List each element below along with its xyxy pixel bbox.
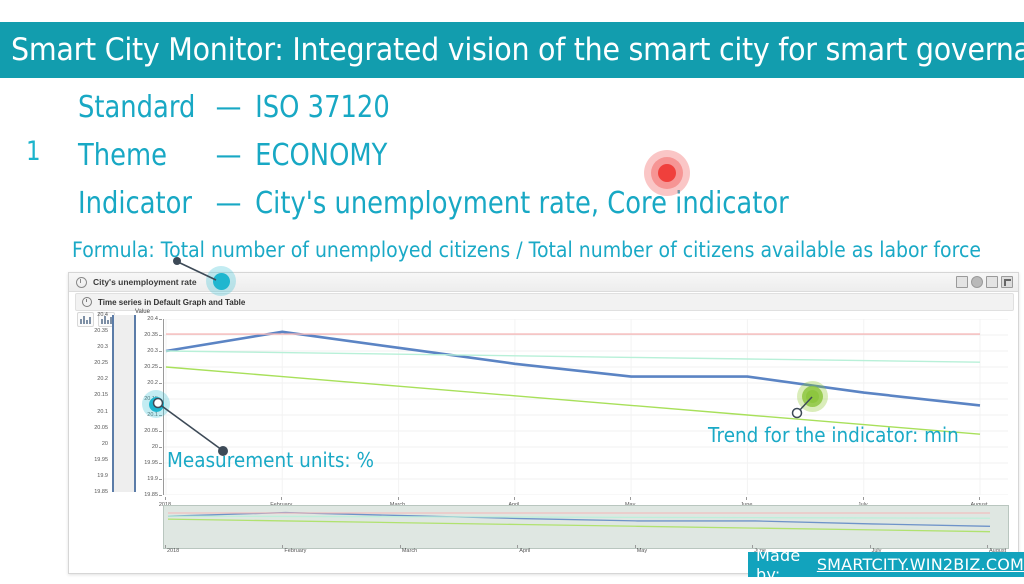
window-subtitle: Time series in Default Graph and Table (98, 298, 245, 307)
y-slider-tick: 20.25 (94, 360, 108, 366)
trend-callout: Trend for the indicator: min (708, 423, 959, 447)
y-slider-tick: 20 (102, 441, 108, 447)
meta-label-standard: Standard (78, 90, 216, 125)
made-by-label: Made by: (756, 546, 811, 584)
y-slider-tick: 19.95 (94, 457, 108, 463)
made-by-url[interactable]: SMARTCITY.WIN2BIZ.COM (817, 555, 1024, 574)
x-axis-tick-mark (630, 497, 631, 500)
made-by-badge[interactable]: Made by: SMARTCITY.WIN2BIZ.COM (748, 552, 1024, 577)
window-subbar: Time series in Default Graph and Table (75, 293, 1014, 311)
chart-series-line (166, 332, 980, 406)
top-white-strip (0, 0, 1024, 22)
meta-value-theme: ECONOMY (255, 138, 387, 173)
navigator-series-line (168, 519, 990, 532)
share-icon[interactable] (1001, 276, 1013, 288)
y-slider-tick: 20.05 (94, 425, 108, 431)
y-range-slider[interactable] (112, 315, 136, 492)
x-axis-tick-mark (746, 497, 747, 500)
x-axis-tick-mark (165, 497, 166, 500)
meta-dash-indicator: — (216, 186, 256, 221)
navigator-x-tick: May (637, 548, 647, 554)
y-axis-tick: 19.95 (144, 460, 158, 466)
title-highlight-marker-icon (206, 266, 236, 296)
y-axis-tick: 20 (152, 444, 158, 450)
clock-icon (82, 297, 92, 307)
navigator-x-tick: 2018 (167, 548, 179, 554)
window-title: City's unemployment rate (93, 277, 197, 287)
app-header-bar: Smart City Monitor: Integrated vision of… (0, 22, 1024, 78)
y-slider-tick: 20.1 (97, 409, 108, 415)
red-pulse-marker-icon (644, 150, 690, 196)
meta-dash-standard: — (216, 90, 256, 125)
y-axis-title: Value (135, 309, 150, 315)
save-icon[interactable] (956, 276, 968, 288)
units-highlight-marker-icon (142, 390, 170, 418)
y-slider-tick: 20.3 (97, 344, 108, 350)
window-icon[interactable] (986, 276, 998, 288)
y-range-slider-scale: 20.420.3520.320.2520.220.1520.120.052019… (71, 315, 110, 492)
y-slider-tick: 20.35 (94, 328, 108, 334)
meta-dash-theme: — (216, 138, 256, 173)
y-axis-tick: 19.85 (144, 492, 158, 498)
x-axis-tick-mark (281, 497, 282, 500)
title-highlight-core-icon (213, 273, 230, 290)
units-highlight-core-icon (149, 397, 164, 412)
measurement-units-callout: Measurement units: % (167, 448, 374, 472)
navigator-series-line (168, 513, 990, 527)
chart-series-line (166, 351, 980, 362)
x-axis-tick-mark (863, 497, 864, 500)
y-slider-tick: 20.15 (94, 392, 108, 398)
meta-row-indicator: Indicator—City's unemployment rate, Core… (78, 186, 789, 221)
meta-label-indicator: Indicator (78, 186, 216, 221)
y-slider-tick: 20.4 (97, 312, 108, 318)
x-axis-tick-mark (398, 497, 399, 500)
y-axis-tick: 20.35 (144, 332, 158, 338)
meta-value-standard: ISO 37120 (255, 90, 390, 125)
meta-row-standard: Standard—ISO 37120 (78, 90, 390, 125)
red-pulse-marker-core-icon (658, 164, 676, 182)
window-controls[interactable] (956, 276, 1013, 288)
navigator-series-svg (164, 506, 1006, 546)
page-title: Smart City Monitor: Integrated vision of… (0, 32, 1024, 68)
chart-navigator[interactable] (163, 505, 1009, 549)
y-axis-tick: 20.25 (144, 364, 158, 370)
x-axis-tick-mark (514, 497, 515, 500)
formula-text: Formula: Total number of unemployed citi… (72, 238, 981, 262)
y-slider-tick: 19.9 (97, 473, 108, 479)
y-axis-tick: 19.9 (147, 476, 158, 482)
y-axis-tick: 20.2 (147, 380, 158, 386)
indicator-meta-block: 1 Standard—ISO 37120 Theme—ECONOMY Indic… (0, 84, 1024, 224)
navigator-x-tick: April (519, 548, 530, 554)
meta-label-theme: Theme (78, 138, 216, 173)
y-slider-tick: 19.85 (94, 489, 108, 495)
y-axis-tick: 20.05 (144, 428, 158, 434)
trend-highlight-marker-icon (797, 381, 828, 412)
x-axis-tick-mark (979, 497, 980, 500)
navigator-x-tick: February (284, 548, 306, 554)
meta-row-theme: Theme—ECONOMY (78, 138, 387, 173)
clock-icon (76, 277, 87, 288)
y-axis-tick: 20.3 (147, 348, 158, 354)
navigator-series-line (168, 516, 990, 518)
settings-gear-icon[interactable] (971, 276, 983, 288)
y-axis-tick: 20.4 (147, 316, 158, 322)
navigator-x-tick: March (402, 548, 417, 554)
meta-value-indicator: City's unemployment rate, Core indicator (255, 186, 789, 221)
y-slider-tick: 20.2 (97, 376, 108, 382)
trend-highlight-core-icon (806, 390, 819, 403)
slide-number: 1 (26, 136, 41, 167)
